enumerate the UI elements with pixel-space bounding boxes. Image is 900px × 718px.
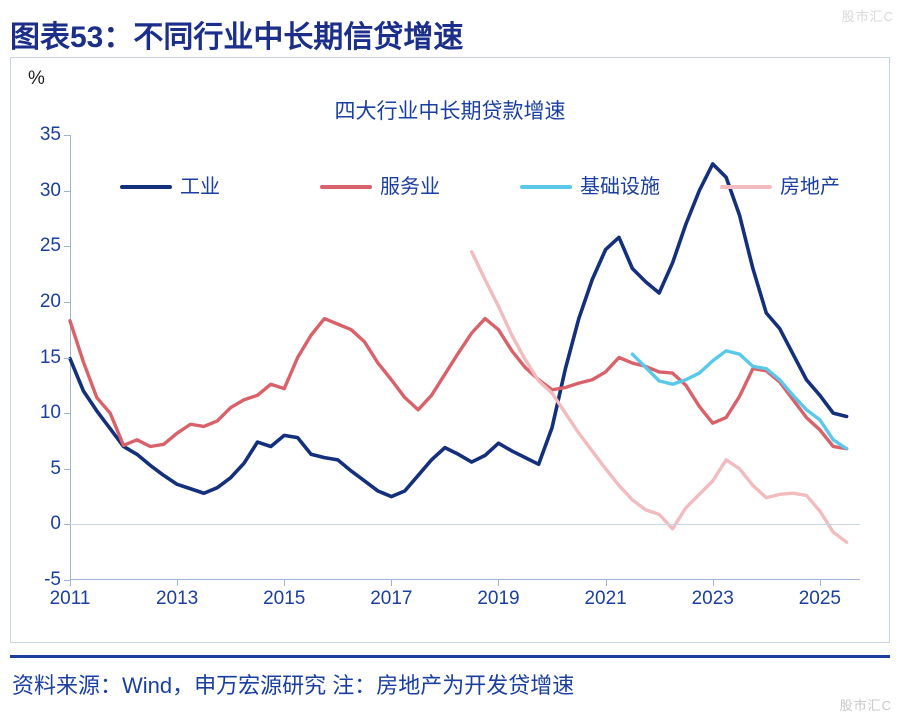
y-tick-label: 20 [40, 291, 61, 313]
source-note: 资料来源：Wind，申万宏源研究 注：房地产为开发贷增速 [12, 668, 574, 700]
title-bar: 图表53：不同行业中长期信贷增速 [0, 8, 900, 52]
y-tick-mark [64, 191, 70, 192]
x-tick-mark [391, 580, 392, 586]
x-tick-mark [606, 580, 607, 586]
chart-title: 四大行业中长期贷款增速 [0, 95, 900, 125]
page-title: 图表53：不同行业中长期信贷增速 [10, 12, 463, 56]
x-tick-label: 2015 [263, 588, 305, 610]
x-tick-mark [820, 580, 821, 586]
watermark-top: 股市汇C [842, 6, 894, 25]
legend-swatch-icon [320, 185, 372, 189]
x-tick-mark [284, 580, 285, 586]
legend-swatch-icon [120, 185, 172, 189]
y-tick-label: 15 [40, 347, 61, 369]
series-line-基础设施 [632, 351, 846, 449]
y-tick-label: 30 [40, 180, 61, 202]
x-tick-label: 2019 [477, 588, 519, 610]
x-tick-mark [70, 580, 71, 586]
legend-label: 基础设施 [580, 172, 660, 202]
legend-label: 工业 [180, 172, 220, 202]
y-tick-mark [64, 302, 70, 303]
x-tick-label: 2013 [156, 588, 198, 610]
y-tick-label: 5 [50, 458, 61, 480]
y-tick-mark [64, 358, 70, 359]
x-tick-mark [177, 580, 178, 586]
y-tick-mark [64, 469, 70, 470]
y-tick-label: 25 [40, 235, 61, 257]
legend-label: 房地产 [780, 172, 840, 202]
footer-divider [10, 655, 890, 658]
x-tick-label: 2025 [799, 588, 841, 610]
y-axis-unit: % [28, 68, 45, 90]
legend-swatch-icon [720, 185, 772, 189]
legend: 工业服务业基础设施房地产 [120, 172, 880, 202]
y-tick-mark [64, 246, 70, 247]
watermark-bottom: 股市汇C [840, 695, 892, 714]
y-tick-mark [64, 135, 70, 136]
x-tick-label: 2021 [584, 588, 626, 610]
y-tick-label: 0 [50, 513, 61, 535]
y-tick-label: 35 [40, 124, 61, 146]
y-tick-mark [64, 413, 70, 414]
x-tick-label: 2023 [692, 588, 734, 610]
x-tick-mark [498, 580, 499, 586]
x-tick-label: 2011 [50, 588, 91, 610]
legend-swatch-icon [520, 185, 572, 189]
zero-line [70, 524, 860, 525]
x-tick-label: 2017 [370, 588, 412, 610]
series-line-服务业 [70, 319, 847, 449]
y-tick-label: 10 [40, 402, 61, 424]
legend-label: 服务业 [380, 172, 440, 202]
series-line-工业 [70, 164, 847, 497]
x-tick-mark [713, 580, 714, 586]
